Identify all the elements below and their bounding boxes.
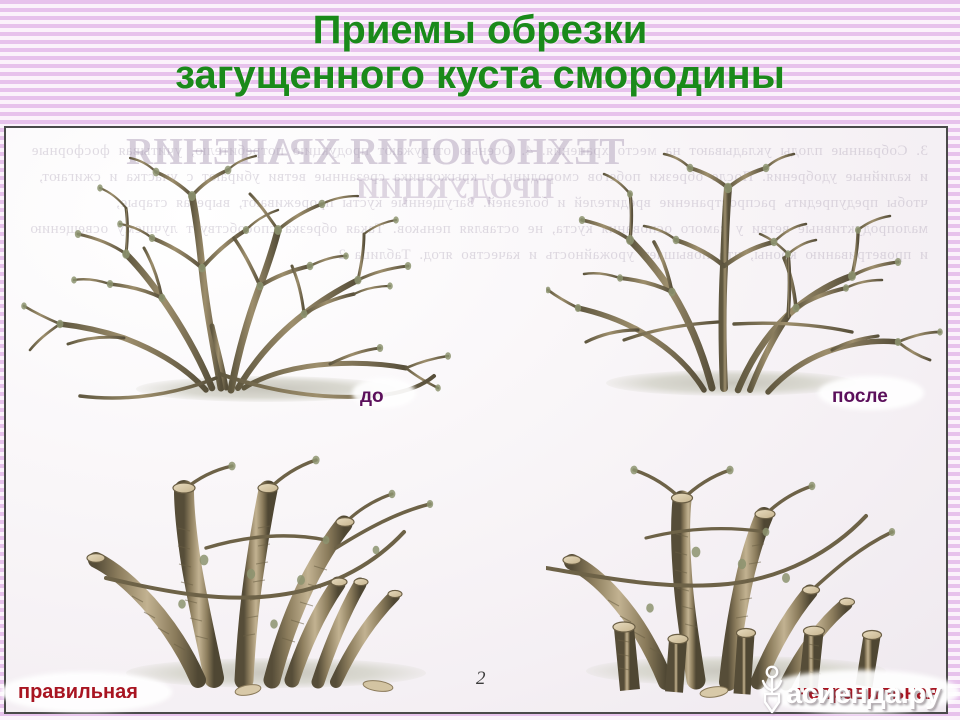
- bush-illustration-incorrect-pruning: [546, 428, 936, 698]
- label-before: до: [360, 386, 384, 408]
- label-correct-pruning: правильная: [18, 681, 138, 704]
- scan-page-number: 2: [476, 668, 486, 690]
- title-line-2: загущенного куста смородины: [0, 53, 960, 98]
- page-title: Приемы обрезки загущенного куста смороди…: [0, 8, 960, 98]
- slide-root: Приемы обрезки загущенного куста смороди…: [0, 0, 960, 720]
- label-after: после: [832, 386, 888, 408]
- bush-illustration-before: [16, 138, 456, 408]
- bush-illustration-correct-pruning: [86, 428, 466, 698]
- title-line-1: Приемы обрезки: [0, 8, 960, 53]
- label-incorrect-pruning: неправильная: [796, 682, 939, 705]
- bush-illustration-after: [546, 144, 946, 404]
- illustration-frame: ТЕХНОЛОГИЯ ХРАНЕНИЯ ПРОДУКЦИИ 3. Собранн…: [4, 126, 948, 714]
